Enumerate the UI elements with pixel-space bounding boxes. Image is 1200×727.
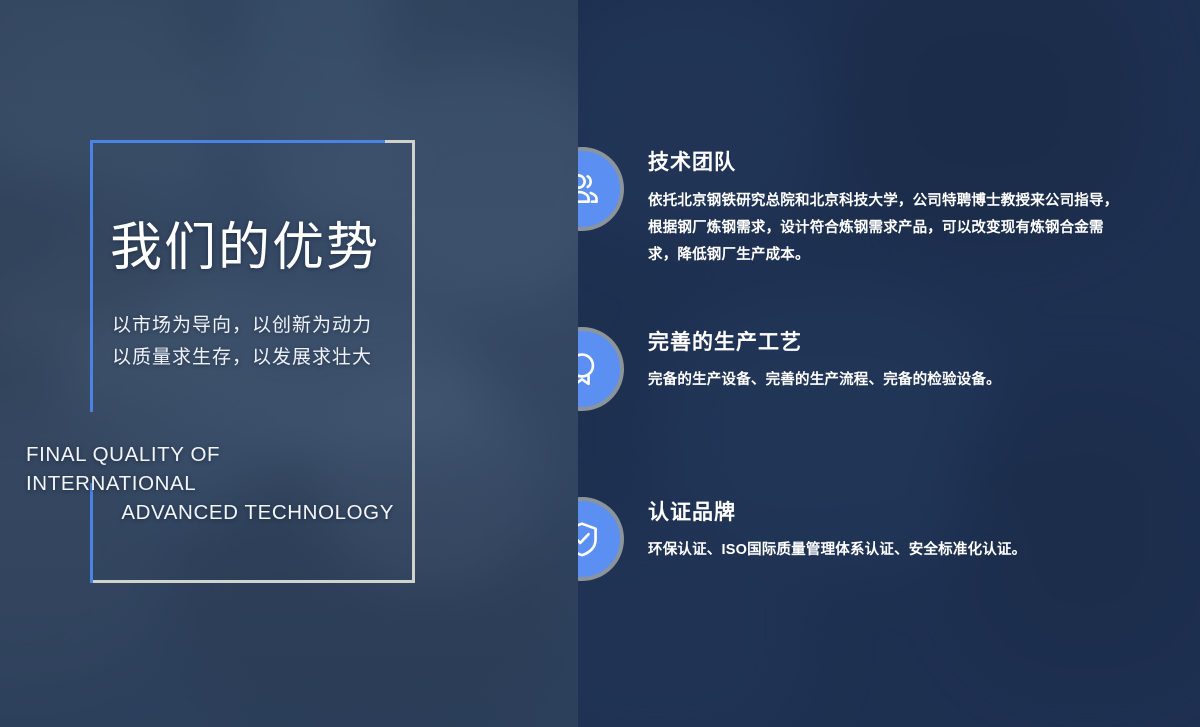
feature-text-block: 技术团队 依托北京钢铁研究总院和北京科技大学，公司特聘博士教授来公司指导，根据钢… <box>648 147 1128 269</box>
feature-description: 依托北京钢铁研究总院和北京科技大学，公司特聘博士教授来公司指导，根据钢厂炼钢需求… <box>648 188 1128 268</box>
slogan-line-2: 以质量求生存，以发展求壮大 <box>112 342 372 369</box>
english-tagline-line-1: FINAL QUALITY OF INTERNATIONAL <box>26 440 394 498</box>
advantages-banner: 我们的优势 以市场为导向，以创新为动力 以质量求生存，以发展求壮大 FINAL … <box>0 0 1200 727</box>
english-tagline-line-2: ADVANCED TECHNOLOGY <box>26 498 394 527</box>
feature-description: 环保认证、ISO国际质量管理体系认证、安全标准化认证。 <box>648 537 1128 564</box>
users-group-icon <box>578 147 624 231</box>
feature-item[interactable]: 技术团队 依托北京钢铁研究总院和北京科技大学，公司特聘博士教授来公司指导，根据钢… <box>578 147 1128 269</box>
left-photo-panel: 我们的优势 以市场为导向，以创新为动力 以质量求生存，以发展求壮大 FINAL … <box>0 0 578 727</box>
feature-list: 技术团队 依托北京钢铁研究总院和北京科技大学，公司特聘博士教授来公司指导，根据钢… <box>578 0 1200 727</box>
feature-title: 认证品牌 <box>648 501 1128 524</box>
english-tagline: FINAL QUALITY OF INTERNATIONAL ADVANCED … <box>26 440 394 527</box>
award-ribbon-icon <box>578 327 624 411</box>
feature-item[interactable]: 完善的生产工艺 完备的生产设备、完善的生产流程、完备的检验设备。 <box>578 327 1128 411</box>
feature-item[interactable]: 认证品牌 环保认证、ISO国际质量管理体系认证、安全标准化认证。 <box>578 497 1128 581</box>
right-feature-panel: 技术团队 依托北京钢铁研究总院和北京科技大学，公司特聘博士教授来公司指导，根据钢… <box>578 0 1200 727</box>
shield-check-icon <box>578 497 624 581</box>
slogan-line-1: 以市场为导向，以创新为动力 <box>112 310 372 337</box>
feature-title: 技术团队 <box>648 151 1128 174</box>
feature-description: 完备的生产设备、完善的生产流程、完备的检验设备。 <box>648 367 1128 394</box>
feature-text-block: 认证品牌 环保认证、ISO国际质量管理体系认证、安全标准化认证。 <box>648 497 1128 564</box>
feature-text-block: 完善的生产工艺 完备的生产设备、完善的生产流程、完备的检验设备。 <box>648 327 1128 394</box>
feature-title: 完善的生产工艺 <box>648 331 1128 354</box>
left-panel-content: 我们的优势 以市场为导向，以创新为动力 以质量求生存，以发展求壮大 FINAL … <box>0 0 578 727</box>
page-title: 我们的优势 <box>110 222 380 274</box>
